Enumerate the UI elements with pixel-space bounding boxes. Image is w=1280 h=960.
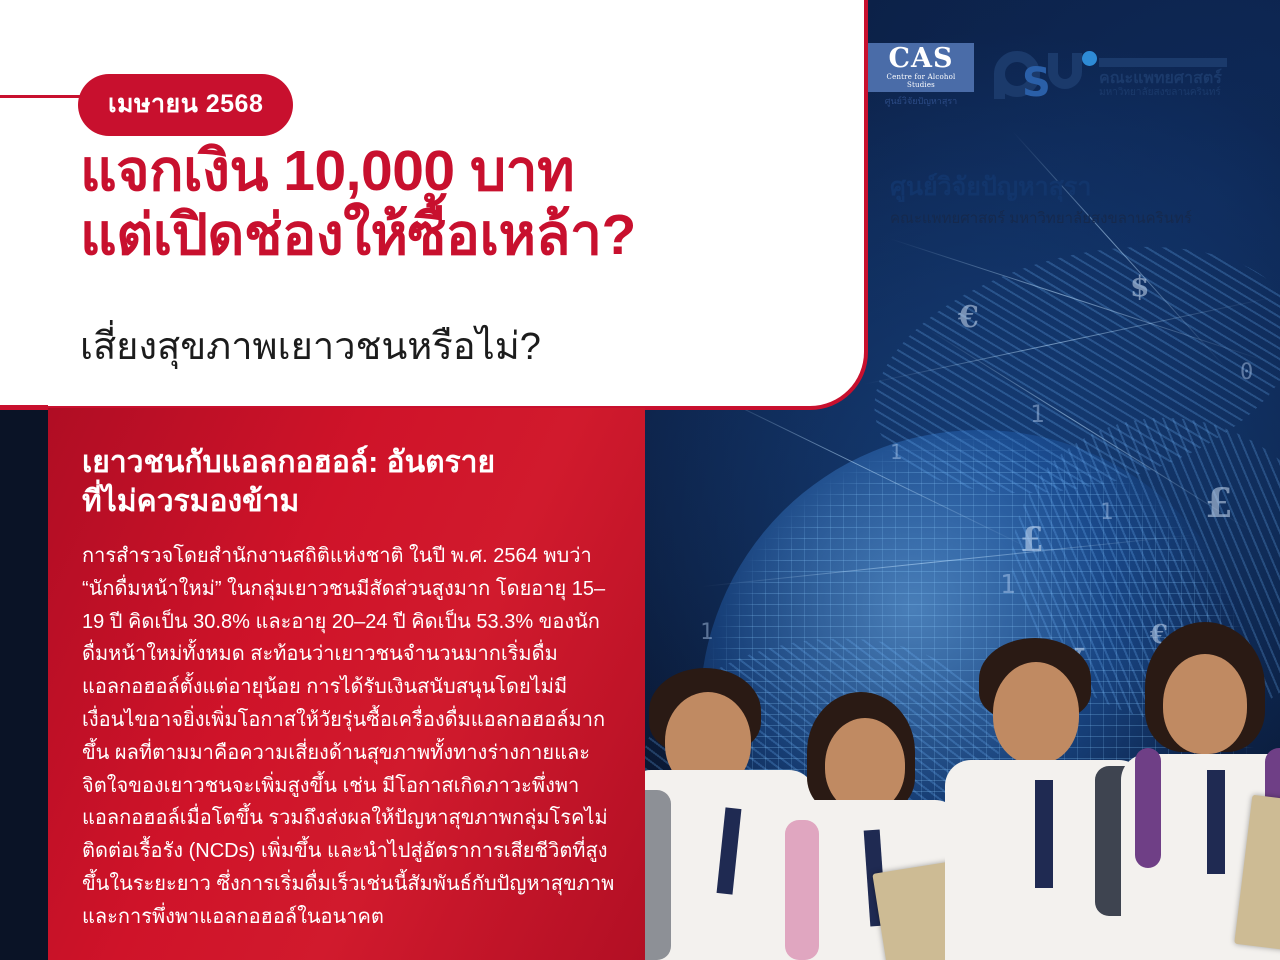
cas-logo-wordmark: CAS [874, 45, 968, 72]
psu-university-label: มหาวิทยาลัยสงขลานครินทร์ [1099, 87, 1227, 98]
binary-digit: 0 [1240, 360, 1253, 385]
navy-strip-rule [0, 405, 48, 409]
binary-digit: 1 [890, 440, 902, 464]
headline-line-1: แจกเงิน 10,000 บาท [80, 139, 574, 203]
psu-letter-p-stem-icon [994, 73, 1005, 99]
content-title-line-1: เยาวชนกับแอลกอฮอล์: อันตราย [82, 446, 495, 479]
infographic-poster: £ £ ¥ € $ € 1 1 1 1 1 0 0 [0, 0, 1280, 960]
binary-digit: 1 [1100, 500, 1113, 525]
headline-line-2: แต่เปิดช่องให้ซื้อเหล้า? [80, 204, 840, 268]
cas-logo-band: CAS Centre for Alcohol Studies [868, 43, 974, 92]
psu-dot-icon [1082, 51, 1097, 66]
cas-logo-thai: ศูนย์วิจัยปัญหาสุรา [868, 94, 974, 108]
student-figure [785, 670, 965, 960]
organization-affiliation: คณะแพทยศาสตร์ มหาวิทยาลัยสงขลานครินทร์ [890, 206, 1270, 230]
currency-symbol-euro: € [958, 300, 979, 335]
cas-logo: CAS Centre for Alcohol Studies ศูนย์วิจั… [868, 43, 974, 108]
currency-symbol-pound: £ [1205, 480, 1233, 527]
content-panel-title: เยาวชนกับแอลกอฮอล์: อันตราย ที่ไม่ควรมอง… [82, 443, 622, 521]
student-figure [1115, 620, 1280, 960]
psu-logo: S คณะแพทยศาสตร์ มหาวิทยาลัยสงขลานครินทร์ [994, 49, 1227, 101]
logo-group: CAS Centre for Alcohol Studies ศูนย์วิจั… [868, 36, 1258, 114]
psu-logo-bar [1099, 58, 1227, 67]
psu-logo-text: คณะแพทยศาสตร์ มหาวิทยาลัยสงขลานครินทร์ [1099, 52, 1227, 99]
psu-logo-mark: S [994, 49, 1090, 101]
organization-name: ศูนย์วิจัยปัญหาสุรา [890, 172, 1270, 202]
psu-letter-u-icon [1048, 53, 1082, 89]
cas-logo-subtitle: Centre for Alcohol Studies [874, 73, 968, 89]
organization-block: ศูนย์วิจัยปัญหาสุรา คณะแพทยศาสตร์ มหาวิท… [890, 172, 1270, 230]
content-title-line-2: ที่ไม่ควรมองข้าม [82, 485, 299, 518]
page-subtitle: เสี่ยงสุขภาพเยาวชนหรือไม่? [80, 315, 840, 376]
content-panel-body: การสำรวจโดยสำนักงานสถิติแห่งชาติ ในปี พ.… [82, 540, 622, 934]
binary-digit: 1 [1000, 570, 1016, 600]
navy-side-strip [0, 410, 48, 960]
students-photo [645, 600, 1280, 960]
page-title: แจกเงิน 10,000 บาท แต่เปิดช่องให้ซื้อเหล… [80, 140, 840, 268]
currency-symbol-dollar: $ [1130, 270, 1149, 303]
currency-symbol-pound: £ [1020, 520, 1044, 560]
binary-digit: 1 [1030, 400, 1044, 428]
psu-faculty-label: คณะแพทยศาสตร์ [1099, 71, 1227, 88]
date-badge: เมษายน 2568 [78, 74, 293, 136]
